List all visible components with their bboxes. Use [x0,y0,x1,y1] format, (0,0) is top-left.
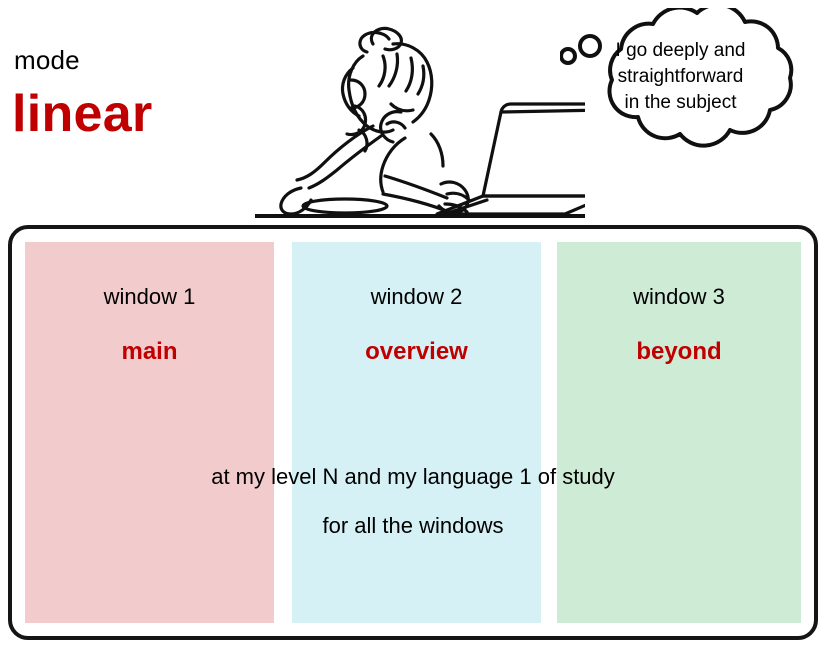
window-panel-1[interactable]: window 1 main [25,242,274,623]
thought-bubble-line-1: I go deeply and [616,40,746,61]
thought-bubble-text: I go deeply and straightforward in the s… [593,38,768,116]
thought-dot-small [561,49,575,63]
thought-bubble-line-3: in the subject [625,92,737,113]
window-panel-3-name: beyond [557,338,801,366]
window-panel-3[interactable]: window 3 beyond [557,242,801,623]
thought-bubble-line-2: straightforward [618,66,744,87]
window-panel-2-title: window 2 [292,284,541,310]
mode-header: mode linear [0,0,260,215]
person-at-laptop-icon [255,8,585,220]
mode-label: mode [14,47,80,73]
window-panel-1-name: main [25,338,274,366]
person-at-laptop-illustration [255,8,585,220]
window-panel-1-title: window 1 [25,284,274,310]
mode-value: linear [12,88,153,140]
window-panel-3-title: window 3 [557,284,801,310]
window-panel-2[interactable]: window 2 overview [292,242,541,623]
window-panel-2-name: overview [292,338,541,366]
